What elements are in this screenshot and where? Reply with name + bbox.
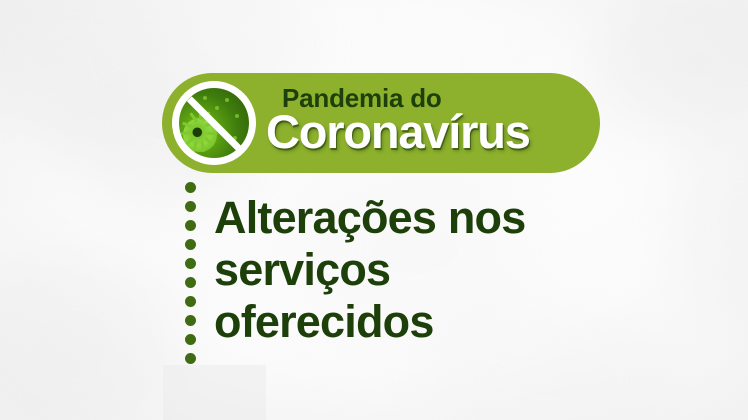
headline-line: oferecidos bbox=[214, 296, 634, 348]
headline: Alterações nos serviços oferecidos bbox=[214, 192, 634, 348]
dot-marker bbox=[185, 334, 196, 345]
poster-canvas: Pandemia do Coronavírus Alterações nos s… bbox=[0, 0, 748, 420]
coronavirus-banner: Pandemia do Coronavírus bbox=[162, 73, 600, 173]
headline-line: serviços bbox=[214, 244, 634, 296]
dot-marker bbox=[185, 239, 196, 250]
dot-marker bbox=[185, 296, 196, 307]
dot-marker bbox=[185, 220, 196, 231]
dot-marker bbox=[185, 201, 196, 212]
dot-marker bbox=[185, 258, 196, 269]
no-virus-icon bbox=[172, 81, 256, 165]
dot-marker bbox=[185, 182, 196, 193]
banner-text-block: Pandemia do Coronavírus bbox=[266, 75, 596, 171]
headline-line: Alterações nos bbox=[214, 192, 634, 244]
dot-marker bbox=[185, 353, 196, 364]
dot-marker bbox=[185, 277, 196, 288]
dot-marker bbox=[185, 315, 196, 326]
banner-brand-title: Coronavírus bbox=[266, 108, 530, 155]
dot-column bbox=[185, 182, 197, 362]
